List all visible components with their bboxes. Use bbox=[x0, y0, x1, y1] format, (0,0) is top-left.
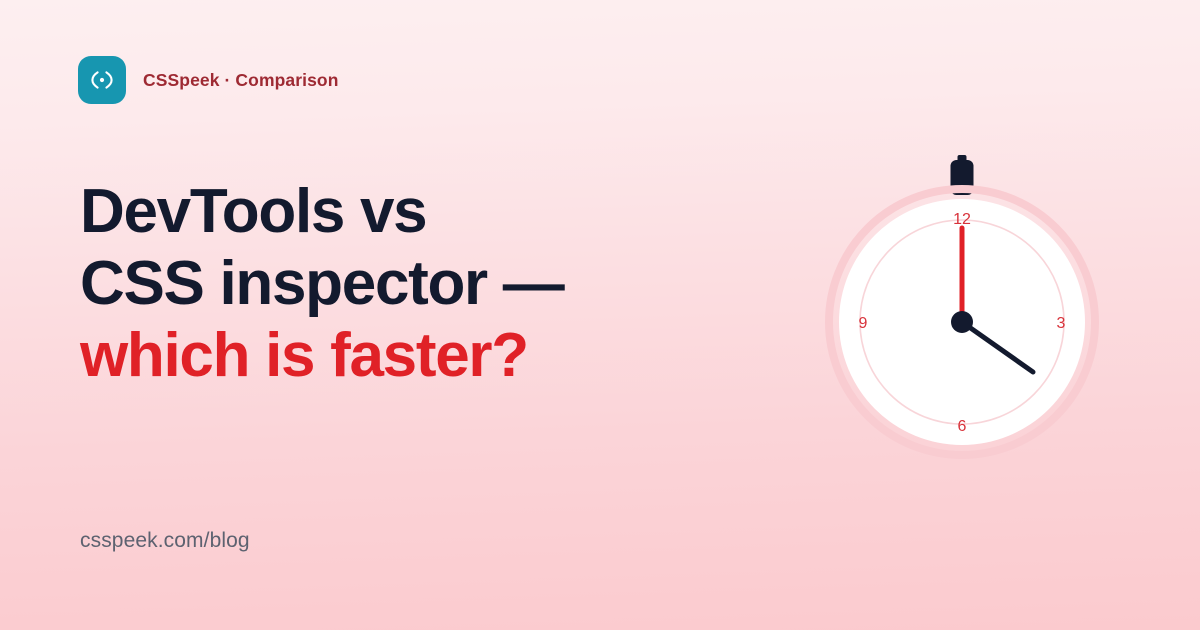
headline-line-3-accent: which is faster? bbox=[80, 320, 720, 392]
clock-numeral-6: 6 bbox=[958, 418, 967, 435]
clock-numeral-12: 12 bbox=[953, 211, 971, 228]
clock-numeral-9: 9 bbox=[859, 315, 868, 332]
brand-label: CSSpeek · Comparison bbox=[143, 70, 339, 91]
page-title: DevTools vs CSS inspector — which is fas… bbox=[80, 176, 720, 392]
clock-numeral-3: 3 bbox=[1057, 315, 1066, 332]
csspeek-logo-icon bbox=[78, 56, 126, 104]
headline-line-1: DevTools vs bbox=[80, 176, 720, 248]
footer-url: csspeek.com/blog bbox=[80, 529, 250, 553]
stopwatch-illustration: 12 3 6 9 bbox=[812, 150, 1122, 460]
headline-line-2: CSS inspector — bbox=[80, 248, 720, 320]
clock-center-hub bbox=[951, 311, 973, 333]
brand-row: CSSpeek · Comparison bbox=[78, 56, 339, 104]
